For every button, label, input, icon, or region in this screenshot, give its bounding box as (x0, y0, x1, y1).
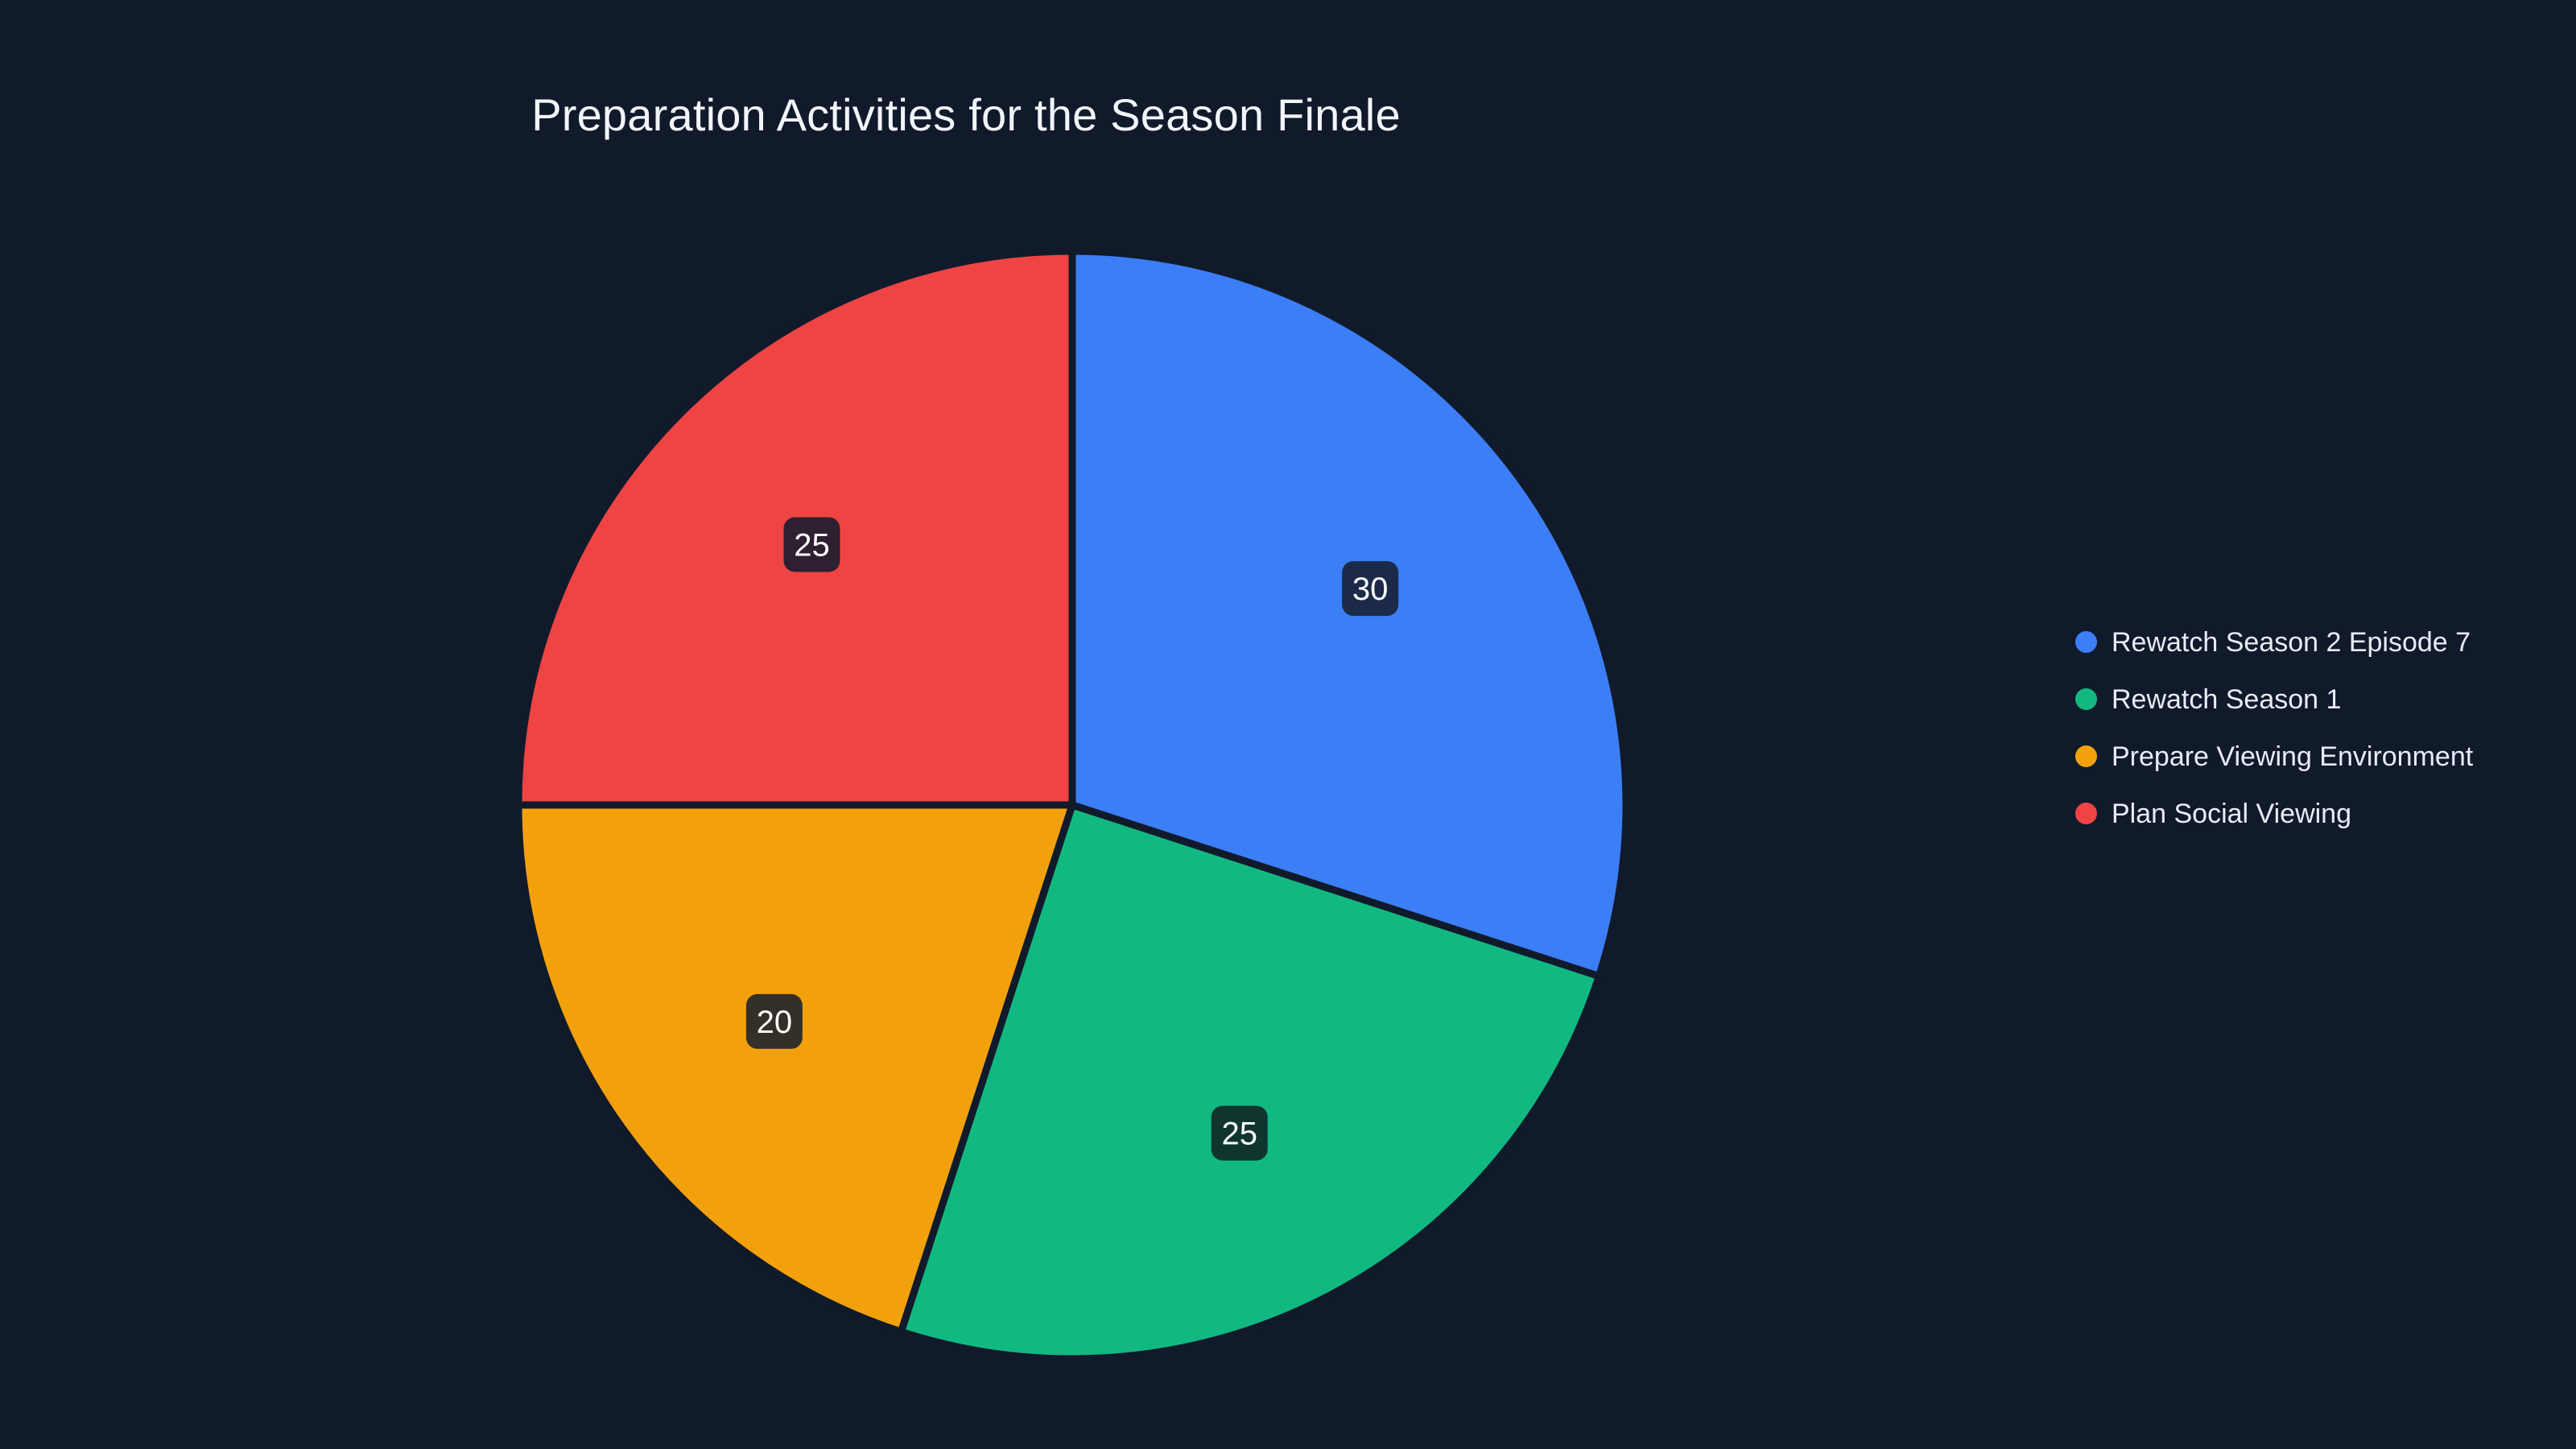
legend-item[interactable]: Plan Social Viewing (2075, 785, 2473, 842)
legend-item-label: Prepare Viewing Environment (2112, 743, 2473, 770)
slice-value-label: 20 (757, 1005, 793, 1040)
chart-legend: Rewatch Season 2 Episode 7Rewatch Season… (2075, 613, 2473, 842)
legend-color-swatch-icon (2075, 688, 2097, 710)
legend-item-label: Rewatch Season 1 (2112, 686, 2341, 713)
pie-chart-figure: Preparation Activities for the Season Fi… (0, 0, 2576, 1449)
legend-item[interactable]: Rewatch Season 1 (2075, 671, 2473, 728)
legend-item-label: Plan Social Viewing (2112, 800, 2351, 828)
legend-color-swatch-icon (2075, 803, 2097, 824)
slice-value-label: 25 (1221, 1117, 1257, 1152)
legend-item-label: Rewatch Season 2 Episode 7 (2112, 629, 2471, 656)
legend-item[interactable]: Rewatch Season 2 Episode 7 (2075, 613, 2473, 671)
slice-value-label: 25 (794, 527, 830, 563)
slice-value-label: 30 (1352, 572, 1389, 607)
legend-color-swatch-icon (2075, 631, 2097, 653)
pie-slices (518, 251, 1626, 1359)
legend-color-swatch-icon (2075, 745, 2097, 767)
legend-item[interactable]: Prepare Viewing Environment (2075, 728, 2473, 785)
